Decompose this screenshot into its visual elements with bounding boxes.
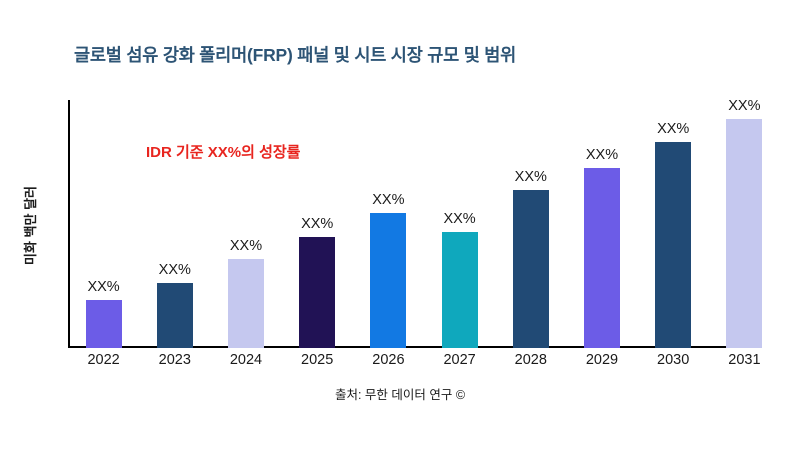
bar-value-label: XX% [301,216,333,232]
bar-value-label: XX% [443,211,475,227]
bar-slot: XX% [282,100,353,348]
x-tick-2030: 2030 [638,352,709,368]
source-caption: 출처: 무한 데이터 연구 © [0,384,800,403]
bar-2022[interactable]: XX% [86,300,122,348]
bar-value-label: XX% [159,262,191,278]
y-axis-label: 미화 백만 달러 [20,186,39,265]
bar-series: XX%XX%XX%XX%XX%XX%XX%XX%XX%XX% [68,100,780,348]
bar-value-label: XX% [515,169,547,185]
bar-2028[interactable]: XX% [513,190,549,348]
growth-rate-annotation: IDR 기준 XX%의 성장률 [146,141,300,162]
bar-value-label: XX% [728,98,760,114]
x-tick-2026: 2026 [353,352,424,368]
x-tick-2025: 2025 [282,352,353,368]
x-tick-2023: 2023 [139,352,210,368]
bar-slot: XX% [424,100,495,348]
bar-2027[interactable]: XX% [442,232,478,348]
x-tick-2024: 2024 [210,352,281,368]
bar-2031[interactable]: XX% [726,119,762,348]
bar-slot: XX% [353,100,424,348]
bar-slot: XX% [139,100,210,348]
x-tick-2031: 2031 [709,352,780,368]
y-axis-label-wrapper: 미화 백만 달러 [12,100,46,350]
bar-2023[interactable]: XX% [157,283,193,348]
chart-container: 글로벌 섬유 강화 폴리머(FRP) 패널 및 시트 시장 규모 및 범위 미화… [0,0,800,450]
bar-slot: XX% [68,100,139,348]
bar-value-label: XX% [87,279,119,295]
x-tick-2029: 2029 [566,352,637,368]
bar-slot: XX% [495,100,566,348]
bar-value-label: XX% [230,238,262,254]
bar-2029[interactable]: XX% [584,168,620,348]
bar-slot: XX% [638,100,709,348]
bar-2024[interactable]: XX% [228,259,264,348]
bar-2025[interactable]: XX% [299,237,335,348]
bar-slot: XX% [566,100,637,348]
x-tick-2027: 2027 [424,352,495,368]
x-tick-2028: 2028 [495,352,566,368]
bar-value-label: XX% [372,192,404,208]
bar-slot: XX% [210,100,281,348]
bar-value-label: XX% [586,147,618,163]
page-title: 글로벌 섬유 강화 폴리머(FRP) 패널 및 시트 시장 규모 및 범위 [74,42,516,67]
bar-value-label: XX% [657,121,689,137]
bar-2030[interactable]: XX% [655,142,691,348]
x-axis-tick-labels: 2022202320242025202620272028202920302031 [68,352,780,376]
bar-slot: XX% [709,100,780,348]
x-tick-2022: 2022 [68,352,139,368]
bar-2026[interactable]: XX% [370,213,406,348]
